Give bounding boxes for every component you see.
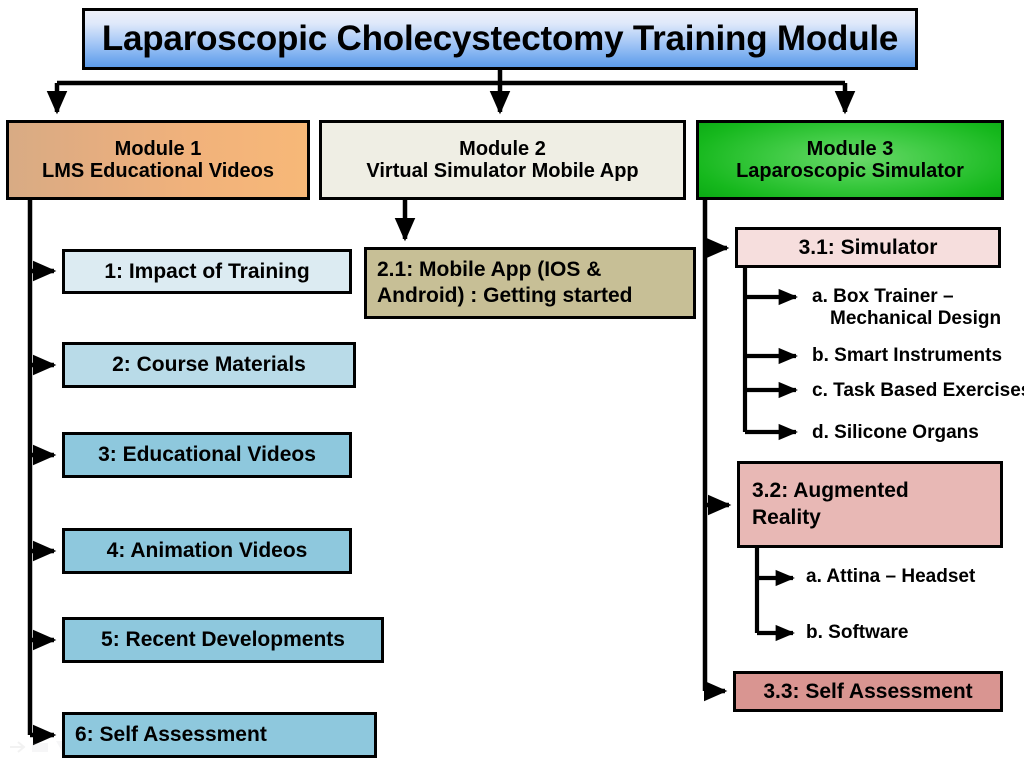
module-1-header[interactable]: Module 1 LMS Educational Videos (6, 120, 310, 200)
module-1-item-4[interactable]: 4: Animation Videos (62, 528, 352, 574)
diagram-title: Laparoscopic Cholecystectomy Training Mo… (82, 8, 918, 70)
module-1-title: Module 1 (115, 138, 202, 160)
module-3-item-33[interactable]: 3.3: Self Assessment (733, 671, 1003, 712)
leaf-31-a: a. Box Trainer – Mechanical Design (812, 286, 1024, 331)
module-3-subtitle: Laparoscopic Simulator (736, 160, 964, 182)
module-2-title: Module 2 (459, 138, 546, 160)
module-3-item-31-label: 3.1: Simulator (799, 236, 938, 260)
leaf-31-d: d. Silicone Organs (812, 422, 979, 444)
module-1-item-6-label: 6: Self Assessment (75, 723, 267, 747)
leaf-31-a-line2: Mechanical Design (830, 308, 1024, 330)
module-1-item-3-label: 3: Educational Videos (98, 443, 316, 467)
module-2-subtitle: Virtual Simulator Mobile App (366, 160, 638, 182)
module-3-item-33-label: 3.3: Self Assessment (763, 680, 972, 704)
leaf-31-c: c. Task Based Exercises (812, 380, 1024, 402)
module-2-header[interactable]: Module 2 Virtual Simulator Mobile App (319, 120, 686, 200)
module-1-item-2-label: 2: Course Materials (112, 353, 306, 377)
module-3-item-32[interactable]: 3.2: Augmented Reality (737, 461, 1003, 548)
leaf-32-a: a. Attina – Headset (806, 566, 975, 588)
module-1-item-2[interactable]: 2: Course Materials (62, 342, 356, 388)
module-2-item-1-label: 2.1: Mobile App (IOS & Android) : Gettin… (377, 257, 693, 308)
module-3-item-32-label-line1: 3.2: Augmented (752, 479, 909, 502)
module-1-item-5[interactable]: 5: Recent Developments (62, 617, 384, 663)
module-3-item-32-label-line2: Reality (752, 506, 821, 529)
module-1-item-3[interactable]: 3: Educational Videos (62, 432, 352, 478)
diagram-title-text: Laparoscopic Cholecystectomy Training Mo… (102, 19, 898, 58)
module-1-subtitle: LMS Educational Videos (42, 160, 274, 182)
module-1-item-1[interactable]: 1: Impact of Training (62, 249, 352, 294)
leaf-31-b: b. Smart Instruments (812, 345, 1002, 367)
module-3-title: Module 3 (807, 138, 894, 160)
module-3-item-31[interactable]: 3.1: Simulator (735, 227, 1001, 268)
module-3-header[interactable]: Module 3 Laparoscopic Simulator (696, 120, 1004, 200)
module-1-item-1-label: 1: Impact of Training (104, 260, 309, 284)
leaf-32-b: b. Software (806, 622, 908, 644)
module-2-item-1[interactable]: 2.1: Mobile App (IOS & Android) : Gettin… (364, 247, 696, 319)
module-3-item-32-label: 3.2: Augmented Reality (752, 478, 909, 531)
module-1-item-6[interactable]: 6: Self Assessment (62, 712, 377, 758)
leaf-31-a-line1: a. Box Trainer – (812, 286, 954, 307)
module-1-item-4-label: 4: Animation Videos (107, 539, 308, 563)
module-1-item-5-label: 5: Recent Developments (101, 628, 345, 652)
